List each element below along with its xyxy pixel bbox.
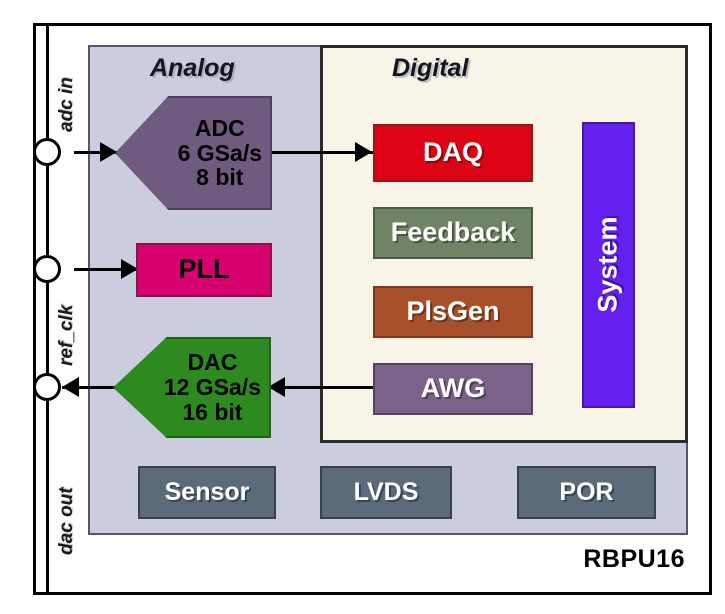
daq-label: DAQ <box>423 138 483 167</box>
adc-line-1: ADC <box>195 115 245 141</box>
block-diagram: Analog Digital adc in ref_clk dac out AD… <box>0 0 725 614</box>
pin-adc-in[interactable] <box>33 138 61 166</box>
pin-label-adc-in: adc in <box>56 77 78 132</box>
adc-line-3: 8 bit <box>196 164 243 190</box>
dac-line-1: DAC <box>187 349 237 375</box>
dac-block-text: DAC 12 GSa/s 16 bit <box>164 350 261 424</box>
dac-out-arrow-icon <box>62 377 79 397</box>
awg-label: AWG <box>421 374 486 403</box>
adc-line-2: 6 GSa/s <box>178 140 262 166</box>
pin-ref-clk[interactable] <box>33 255 61 283</box>
feedback-block[interactable]: Feedback <box>373 207 533 259</box>
adc-block-text: ADC 6 GSa/s 8 bit <box>178 116 262 190</box>
adc-in-arrow-icon <box>100 142 117 162</box>
plsgen-label: PlsGen <box>406 297 499 326</box>
left-bus-wire <box>46 24 49 594</box>
digital-panel-title: Digital <box>392 54 468 83</box>
system-block[interactable]: System <box>582 122 635 408</box>
daq-block[interactable]: DAQ <box>373 124 533 182</box>
sensor-label: Sensor <box>165 479 250 506</box>
pin-dac-out[interactable] <box>33 373 61 401</box>
pll-block[interactable]: PLL <box>136 243 272 297</box>
awg-block[interactable]: AWG <box>373 363 533 415</box>
pin-label-dac-out: dac out <box>56 487 78 555</box>
adc-to-daq-arrow-icon <box>355 142 372 162</box>
chip-name-label: RBPU16 <box>520 545 685 574</box>
system-label: System <box>594 217 623 313</box>
lvds-label: LVDS <box>354 479 419 506</box>
pin-label-ref-clk: ref_clk <box>56 305 78 366</box>
dac-line-3: 16 bit <box>182 399 242 425</box>
dac-line-2: 12 GSa/s <box>164 374 261 400</box>
por-label: POR <box>559 479 613 506</box>
feedback-label: Feedback <box>391 218 516 247</box>
analog-panel-title: Analog <box>150 54 235 83</box>
plsgen-block[interactable]: PlsGen <box>373 286 533 338</box>
sensor-block[interactable]: Sensor <box>138 466 276 519</box>
pll-label: PLL <box>179 255 230 284</box>
lvds-block[interactable]: LVDS <box>320 466 452 519</box>
por-block[interactable]: POR <box>517 466 656 519</box>
